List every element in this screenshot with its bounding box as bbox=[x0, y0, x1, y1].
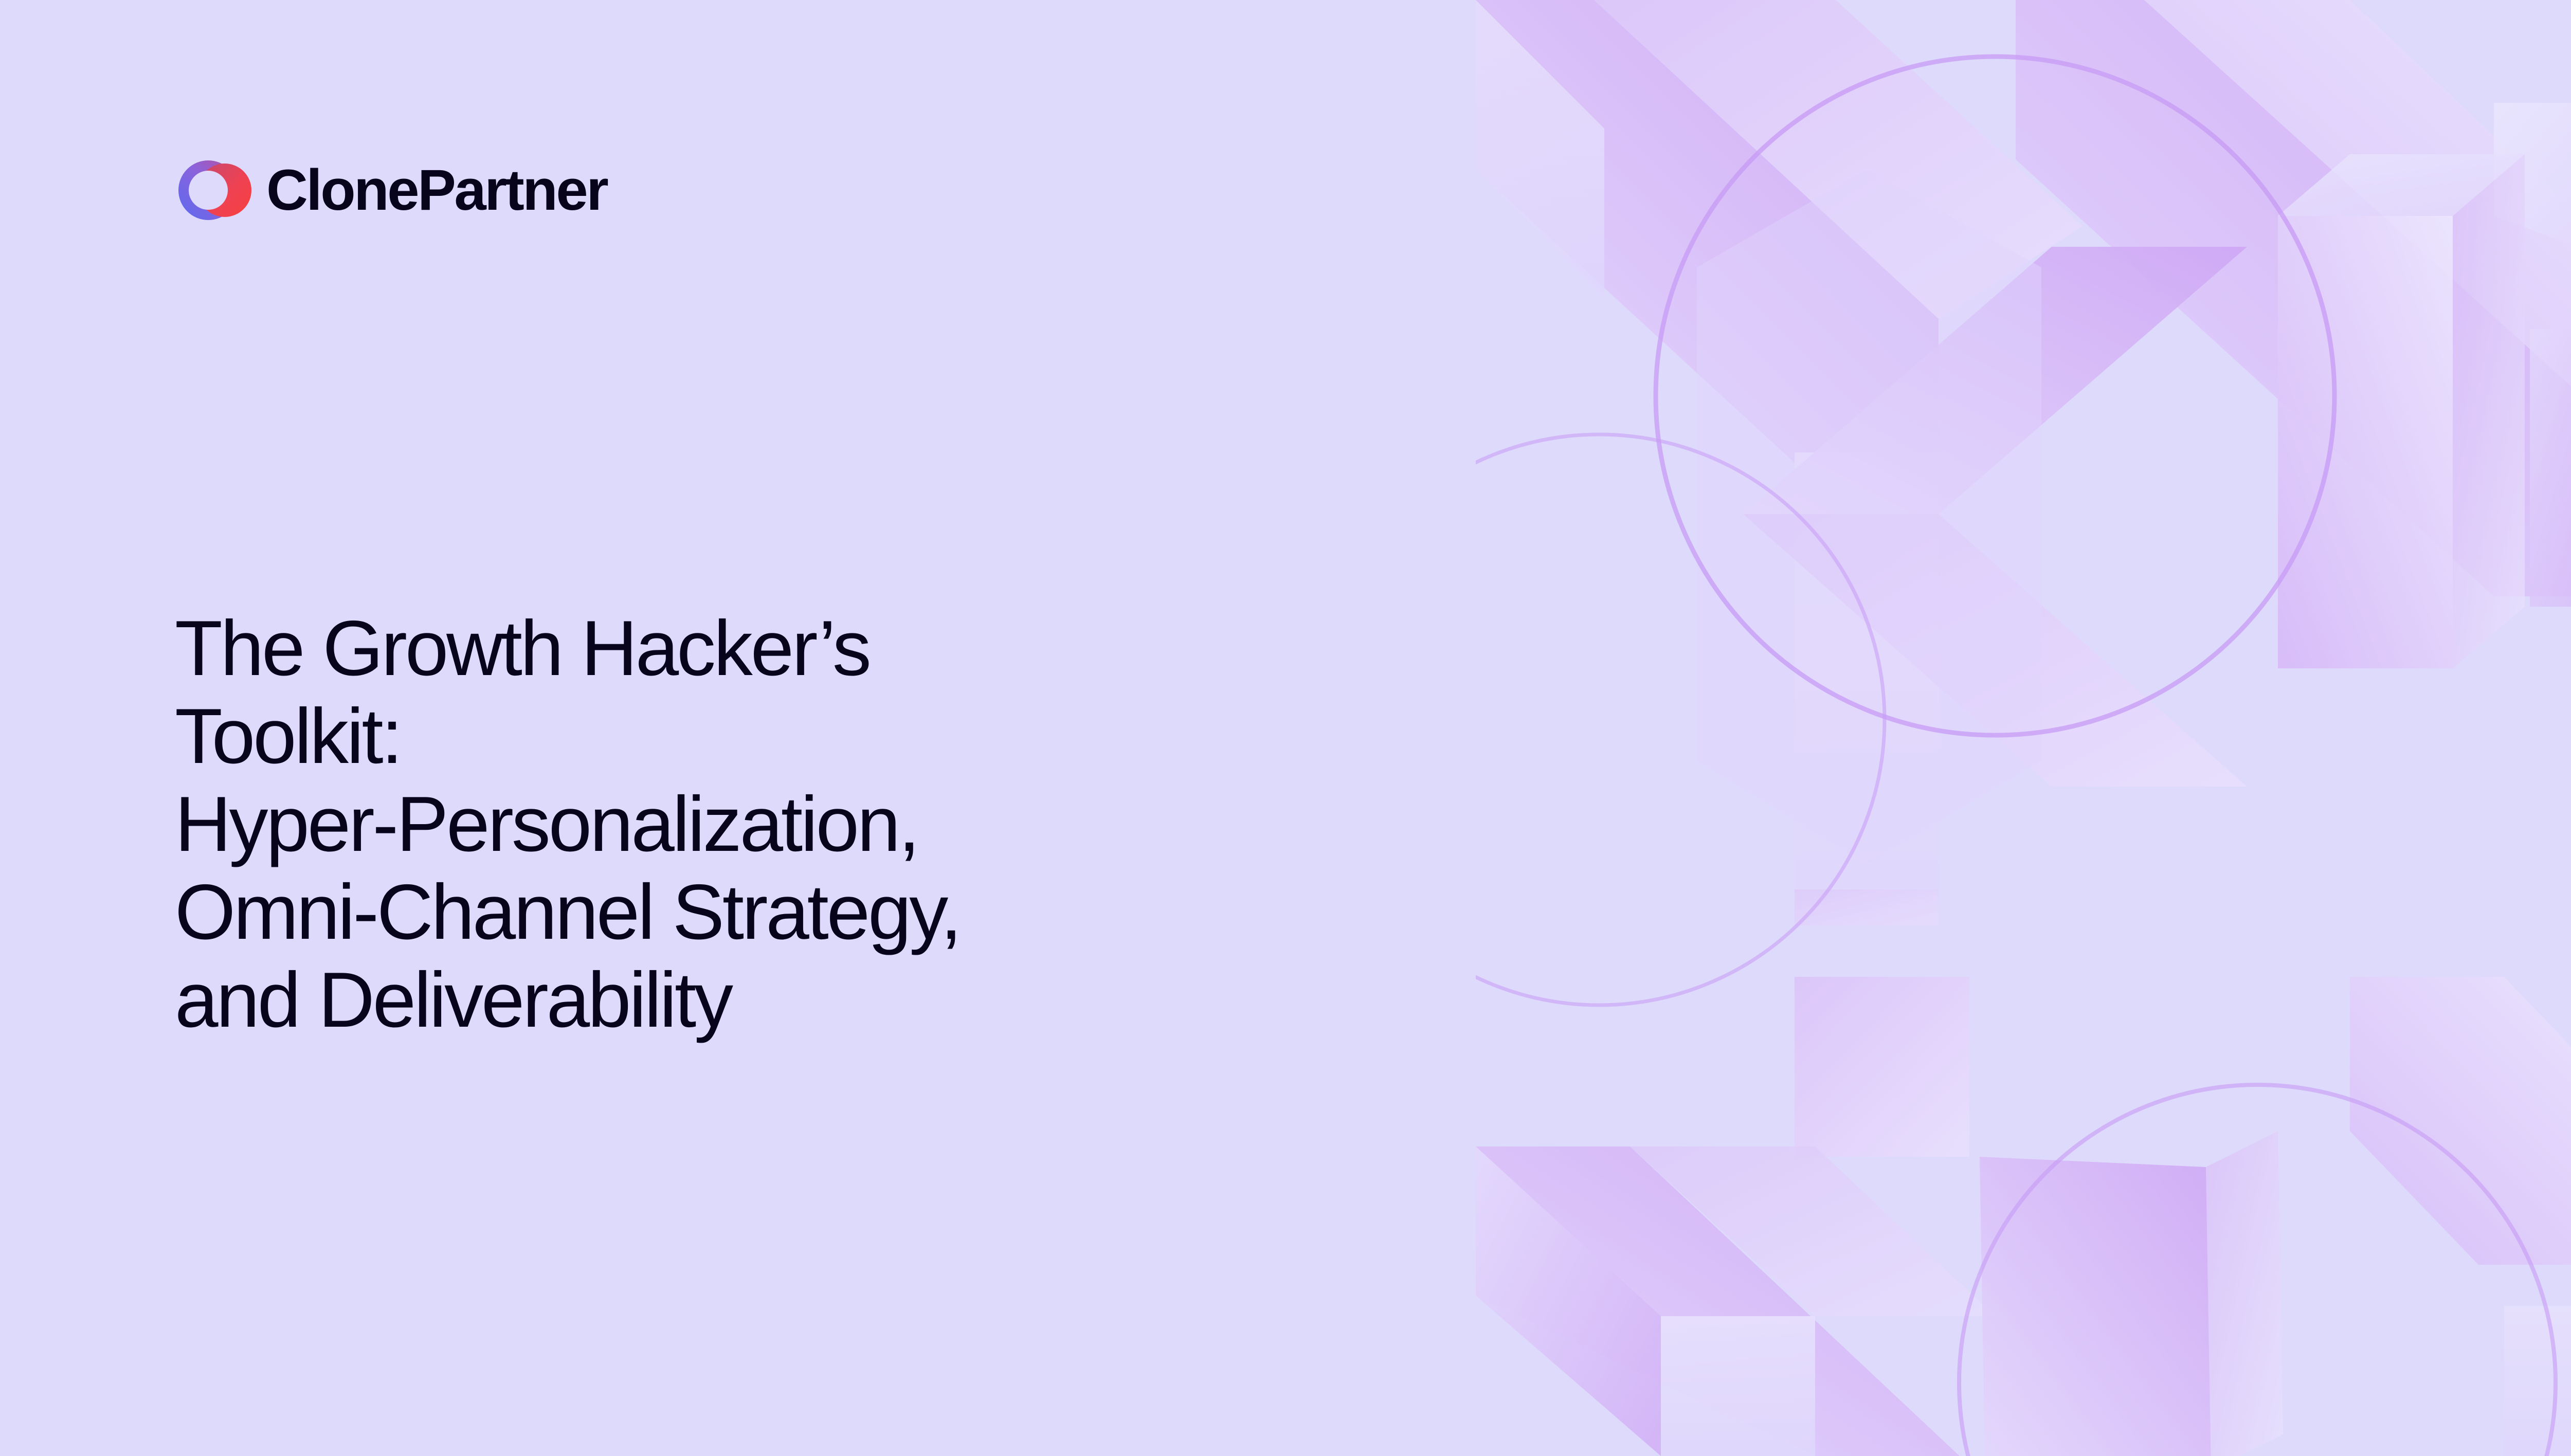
brand-wordmark: ClonePartner bbox=[266, 161, 607, 219]
two-overlapping-circles-logo-icon bbox=[175, 157, 253, 224]
headline-line-2: Toolkit: bbox=[175, 693, 1491, 780]
headline-line-1: The Growth Hacker’s bbox=[175, 605, 1491, 693]
brand-logo-lockup[interactable]: ClonePartner bbox=[175, 152, 607, 228]
headline-line-3: Hyper-Personalization, bbox=[175, 780, 1491, 868]
pattern-svg bbox=[1476, 0, 2571, 1456]
page-title: The Growth Hacker’s Toolkit: Hyper-Perso… bbox=[175, 605, 1491, 1044]
slide-canvas: ClonePartner The Growth Hacker’s Toolkit… bbox=[0, 0, 2571, 1456]
headline-line-4: Omni-Channel Strategy, bbox=[175, 868, 1491, 956]
headline-line-5: and Deliverability bbox=[175, 956, 1491, 1044]
isometric-cubes-pattern bbox=[1476, 0, 2571, 1456]
